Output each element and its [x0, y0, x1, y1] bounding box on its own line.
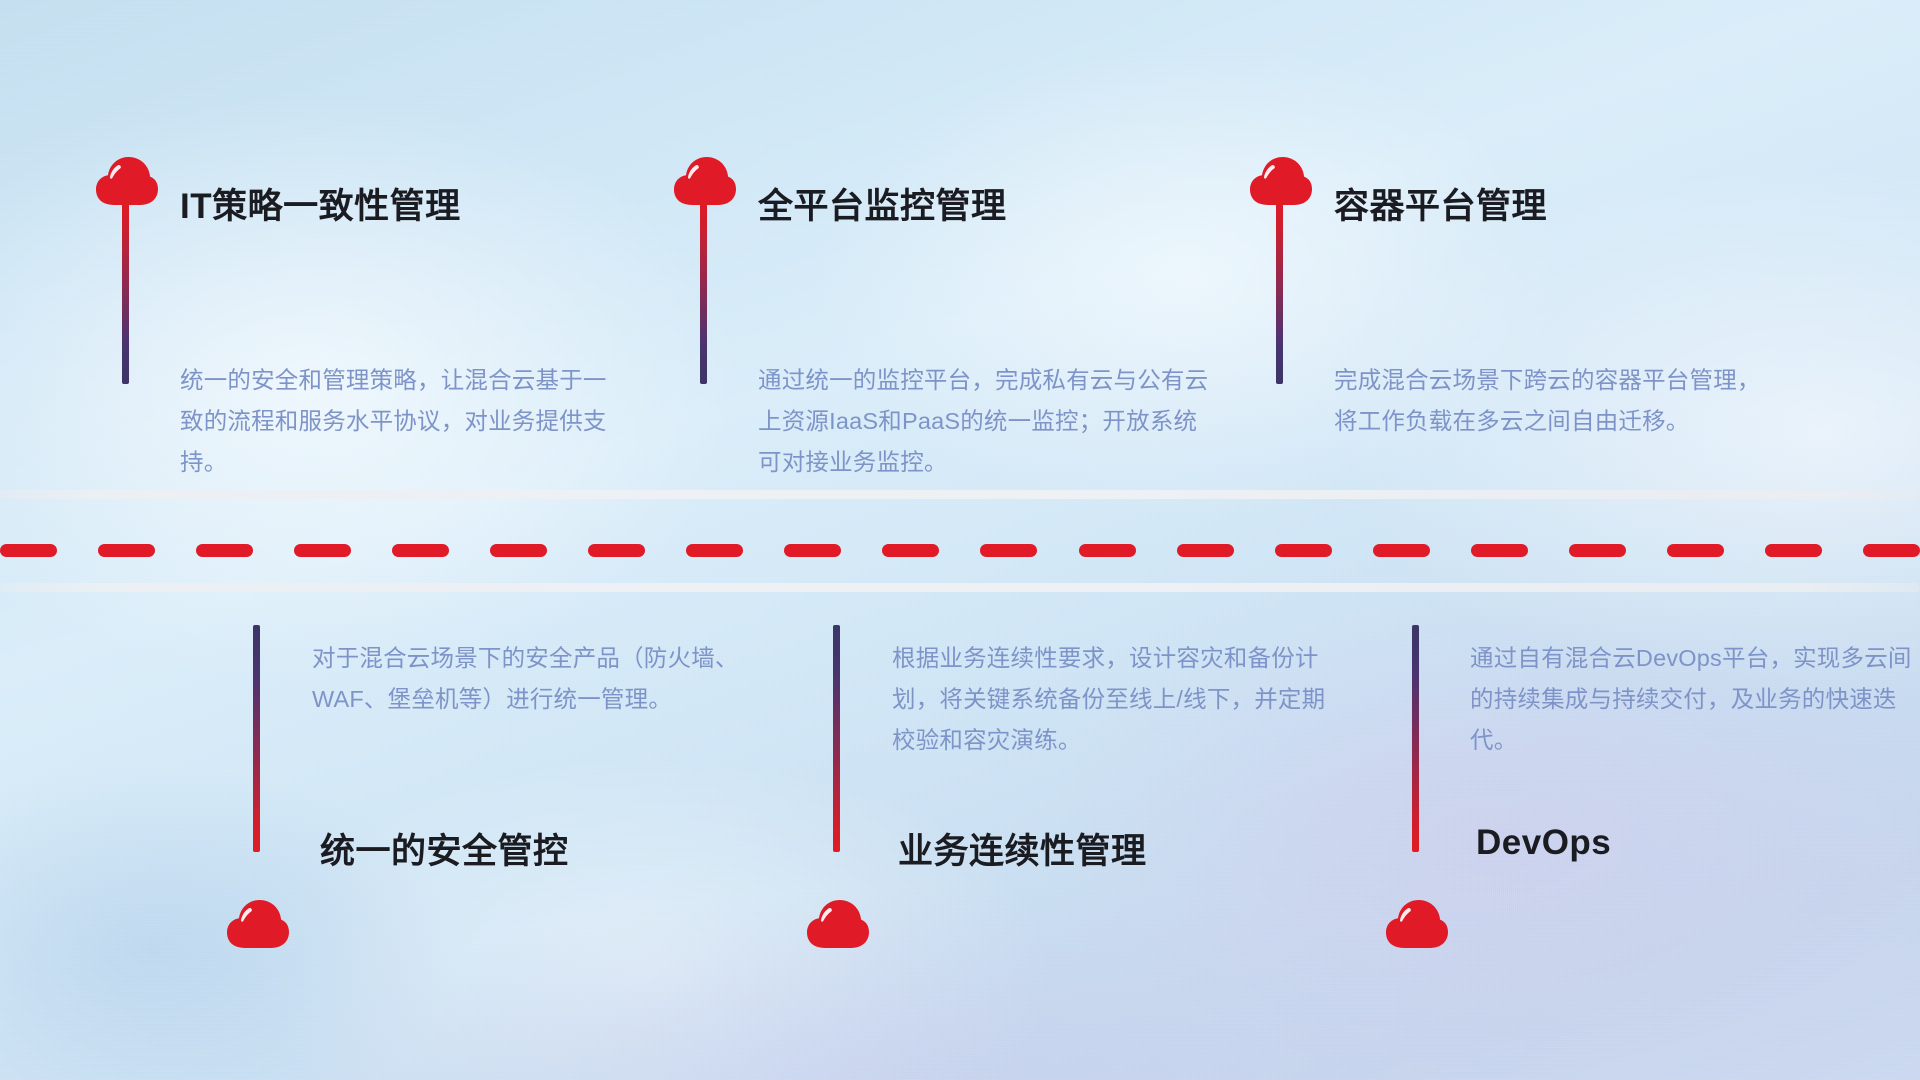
- divider-dash: [490, 544, 547, 557]
- top-item-2-heading: 全平台监控管理: [758, 178, 1007, 229]
- bottom-item-2-heading: 业务连续性管理: [898, 823, 1147, 874]
- divider-dash: [882, 544, 939, 557]
- divider-dash: [686, 544, 743, 557]
- divider-dash: [98, 544, 155, 557]
- top-item-1-heading: IT策略一致性管理: [180, 178, 461, 229]
- infographic-stage: IT策略一致性管理 统一的安全和管理策略，让混合云基于一致的流程和服务水平协议，…: [0, 0, 1920, 1080]
- connector-stem: [833, 625, 840, 852]
- divider-dash: [1765, 544, 1822, 557]
- divider-dash: [1863, 544, 1920, 557]
- divider-dash: [196, 544, 253, 557]
- connector-stem: [253, 625, 260, 852]
- connector-stem: [1412, 625, 1419, 852]
- divider-dash: [588, 544, 645, 557]
- divider-dash: [1079, 544, 1136, 557]
- bottom-item-3-body: 通过自有混合云DevOps平台，实现多云间的持续集成与持续交付，及业务的快速迭代…: [1470, 638, 1920, 761]
- divider-rail-bottom: [0, 583, 1920, 592]
- divider-rail-top: [0, 490, 1920, 499]
- divider-dash: [0, 544, 57, 557]
- top-item-3-body: 完成混合云场景下跨云的容器平台管理，将工作负载在多云之间自由迁移。: [1334, 360, 1784, 442]
- divider-dash: [294, 544, 351, 557]
- bottom-item-1-body: 对于混合云场景下的安全产品（防火墙、WAF、堡垒机等）进行统一管理。: [312, 638, 752, 720]
- divider-dash: [1177, 544, 1234, 557]
- top-item-2-body: 通过统一的监控平台，完成私有云与公有云上资源IaaS和PaaS的统一监控；开放系…: [758, 360, 1218, 483]
- cloud-marker-icon: [225, 898, 291, 950]
- divider-dash: [392, 544, 449, 557]
- top-item-1-body: 统一的安全和管理策略，让混合云基于一致的流程和服务水平协议，对业务提供支持。: [180, 360, 620, 483]
- divider-dash: [1373, 544, 1430, 557]
- connector-stem: [1276, 200, 1283, 384]
- divider-dash: [1667, 544, 1724, 557]
- divider-dash: [1471, 544, 1528, 557]
- divider-dash: [1275, 544, 1332, 557]
- dashed-divider: [0, 544, 1920, 557]
- bottom-item-3-heading: DevOps: [1476, 823, 1611, 863]
- cloud-marker-icon: [1384, 898, 1450, 950]
- divider-dash: [1569, 544, 1626, 557]
- top-item-3-heading: 容器平台管理: [1334, 178, 1547, 229]
- connector-stem: [700, 200, 707, 384]
- bottom-item-1-heading: 统一的安全管控: [320, 823, 569, 874]
- cloud-marker-icon: [805, 898, 871, 950]
- divider-dash: [980, 544, 1037, 557]
- connector-stem: [122, 200, 129, 384]
- divider-dash: [784, 544, 841, 557]
- bottom-item-2-body: 根据业务连续性要求，设计容灾和备份计划，将关键系统备份至线上/线下，并定期校验和…: [892, 638, 1332, 761]
